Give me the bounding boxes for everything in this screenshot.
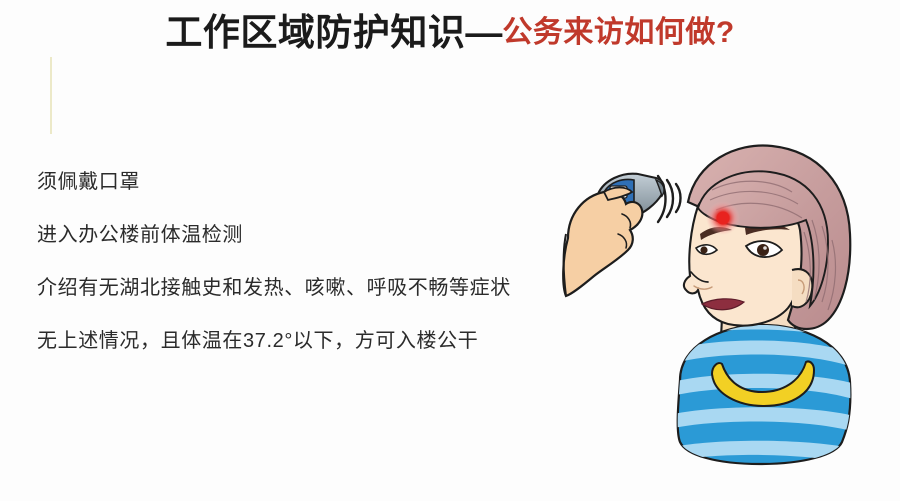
body-line-1: 须佩戴口罩 [37,172,557,192]
slide-canvas: 工作区域防护知识—公务来访如何做? 须佩戴口罩 进入办公楼前体温检测 介绍有无湖… [0,0,900,501]
body-text-block: 须佩戴口罩 进入办公楼前体温检测 介绍有无湖北接触史和发热、咳嗽、呼吸不畅等症状… [37,172,557,351]
body-line-2: 进入办公楼前体温检测 [37,225,557,245]
title-accent-text: 公务来访如何做? [502,16,734,49]
body-line-3: 介绍有无湖北接触史和发热、咳嗽、呼吸不畅等症状 [37,278,557,298]
title-dash: — [465,12,502,53]
striped-shirt [665,321,862,466]
decorative-vertical-rule [50,57,52,134]
body-line-4: 无上述情况，且体温在37.2°以下，方可入楼公干 [37,331,557,351]
thermometer-illustration [560,130,900,501]
laser-dot-icon [706,201,740,235]
page-title: 工作区域防护知识—公务来访如何做? [0,14,900,51]
thermometer-illustration-svg [560,130,900,501]
title-main-text: 工作区域防护知识 [165,12,465,53]
hand [563,188,642,297]
